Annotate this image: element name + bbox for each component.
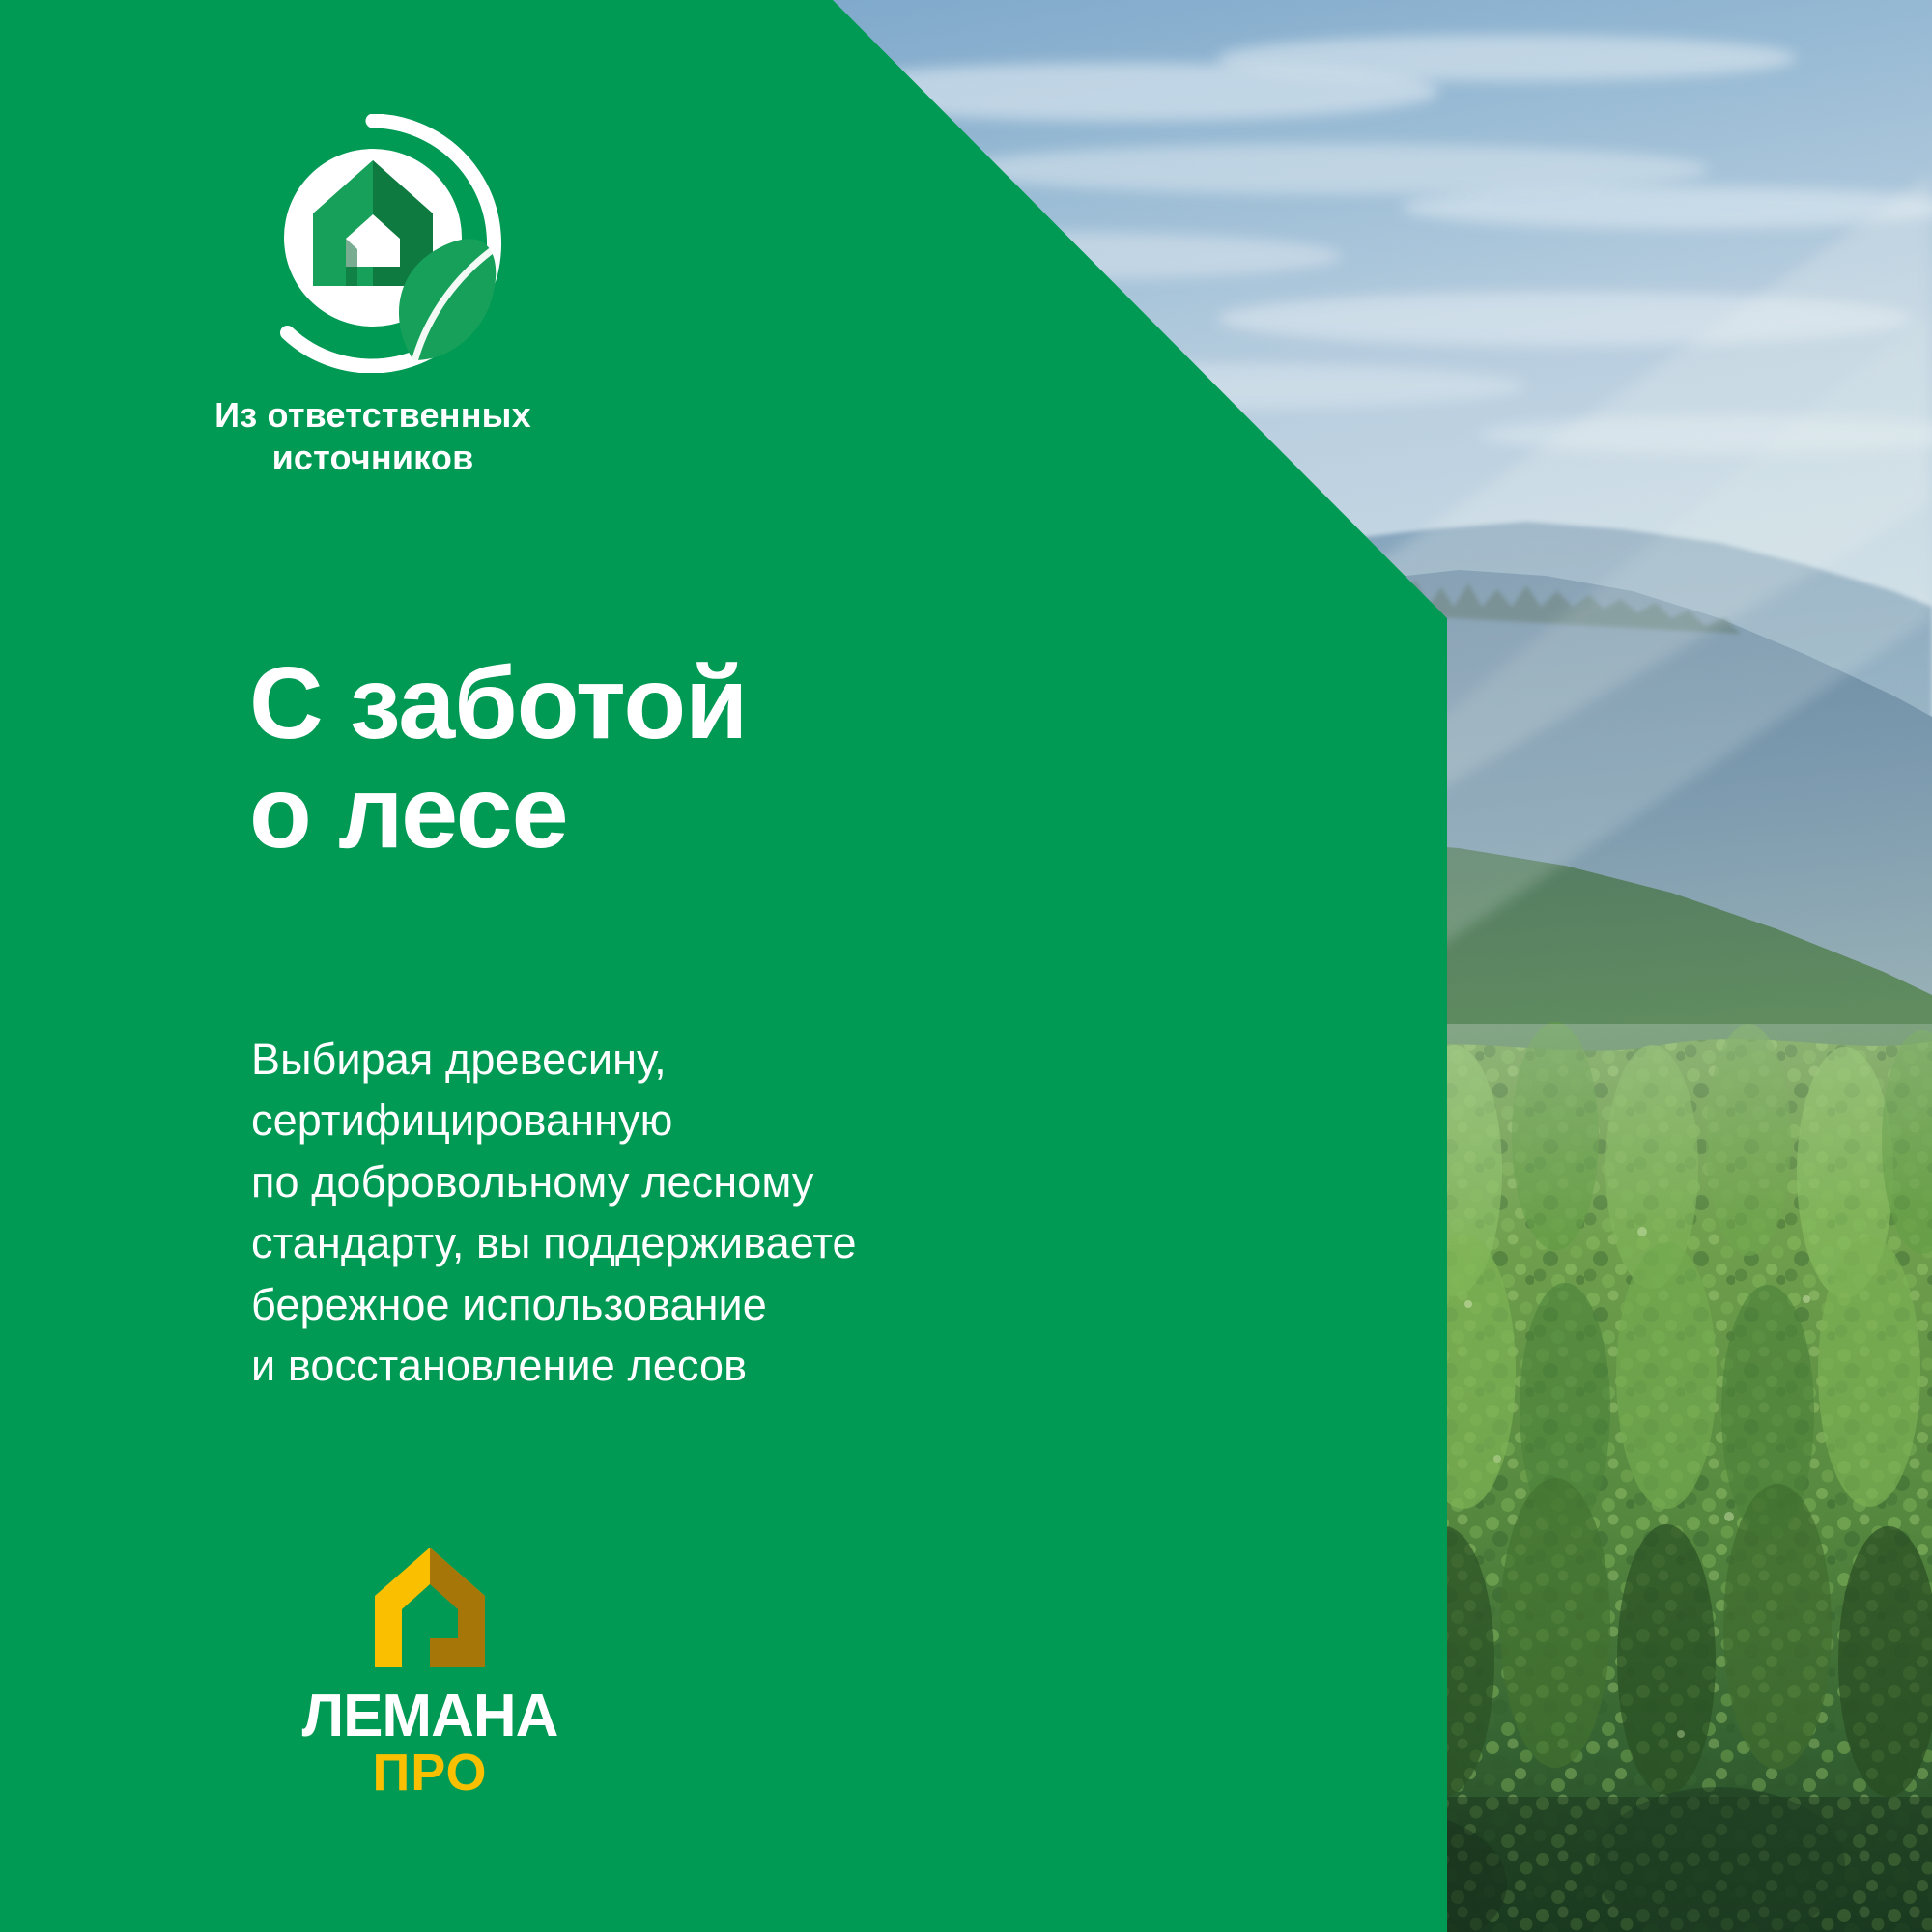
house-leaf-circle-emblem-icon bbox=[243, 114, 502, 373]
page-title: С заботой о лесе bbox=[249, 649, 747, 868]
eco-certification-badge: Из ответственных источников bbox=[189, 114, 556, 479]
brand-name-secondary: ПРО bbox=[372, 1744, 487, 1796]
lemana-pro-logo: ЛЕМАНА ПРО bbox=[246, 1546, 613, 1796]
lemana-house-icon bbox=[373, 1546, 487, 1669]
poster-canvas: Из ответственных источников С заботой о … bbox=[0, 0, 1932, 1932]
content-layer: Из ответственных источников С заботой о … bbox=[0, 0, 1932, 1932]
eco-badge-caption: Из ответственных источников bbox=[189, 394, 556, 479]
body-paragraph: Выбирая древесину, сертифицированную по … bbox=[251, 1029, 857, 1397]
lemana-pro-wordmark: ЛЕМАНА ПРО bbox=[270, 1682, 589, 1796]
brand-name-primary: ЛЕМАНА bbox=[302, 1683, 558, 1749]
